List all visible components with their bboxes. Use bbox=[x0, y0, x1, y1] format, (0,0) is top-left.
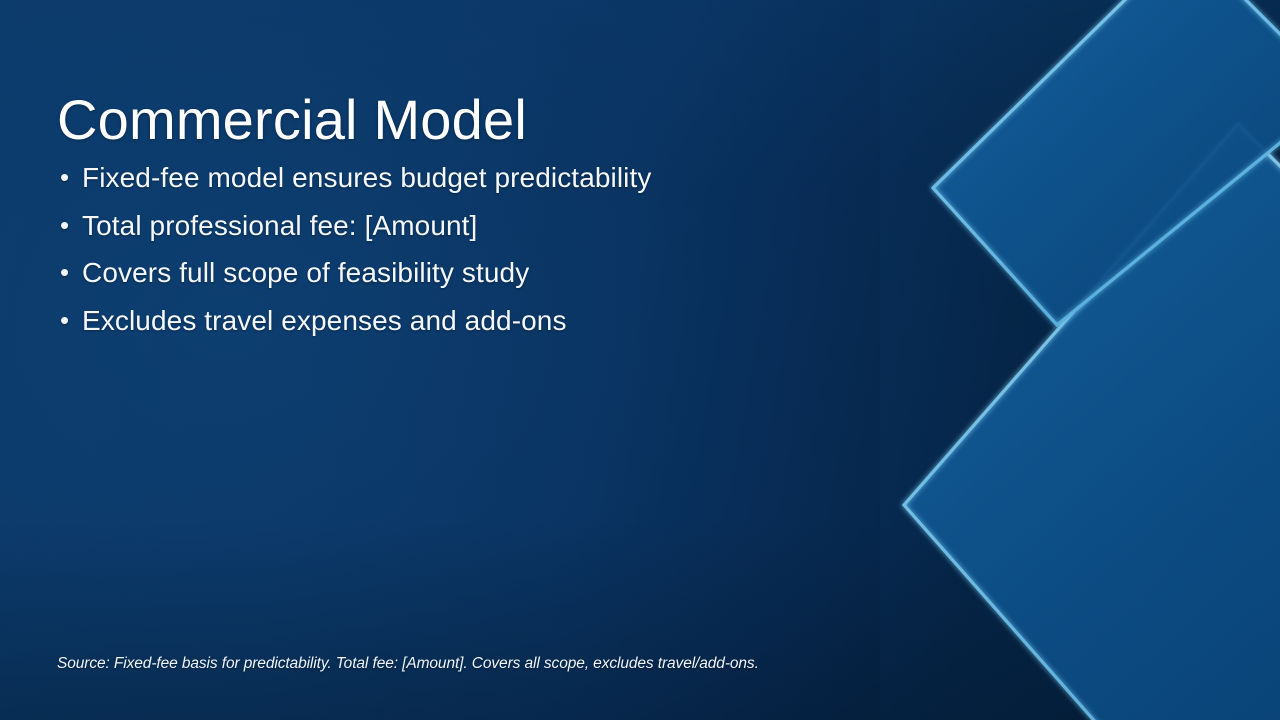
page-title: Commercial Model bbox=[57, 90, 527, 150]
bullet-text: Excludes travel expenses and add-ons bbox=[82, 305, 567, 336]
list-item: • Covers full scope of feasibility study bbox=[57, 249, 887, 297]
bullet-text: Fixed-fee model ensures budget predictab… bbox=[82, 162, 651, 193]
slide-canvas: Commercial Model • Fixed-fee model ensur… bbox=[0, 0, 1280, 720]
list-item: • Fixed-fee model ensures budget predict… bbox=[57, 154, 887, 202]
bullet-text: Covers full scope of feasibility study bbox=[82, 257, 529, 288]
bullet-marker-icon: • bbox=[60, 297, 69, 345]
slide-content: Commercial Model • Fixed-fee model ensur… bbox=[0, 0, 1280, 720]
bullet-list: • Fixed-fee model ensures budget predict… bbox=[57, 154, 887, 344]
list-item: • Total professional fee: [Amount] bbox=[57, 202, 887, 250]
bullet-marker-icon: • bbox=[60, 249, 69, 297]
bullet-marker-icon: • bbox=[60, 202, 69, 250]
bullet-marker-icon: • bbox=[60, 154, 69, 202]
source-note: Source: Fixed-fee basis for predictabili… bbox=[57, 655, 759, 673]
bullet-text: Total professional fee: [Amount] bbox=[82, 210, 477, 241]
list-item: • Excludes travel expenses and add-ons bbox=[57, 297, 887, 345]
